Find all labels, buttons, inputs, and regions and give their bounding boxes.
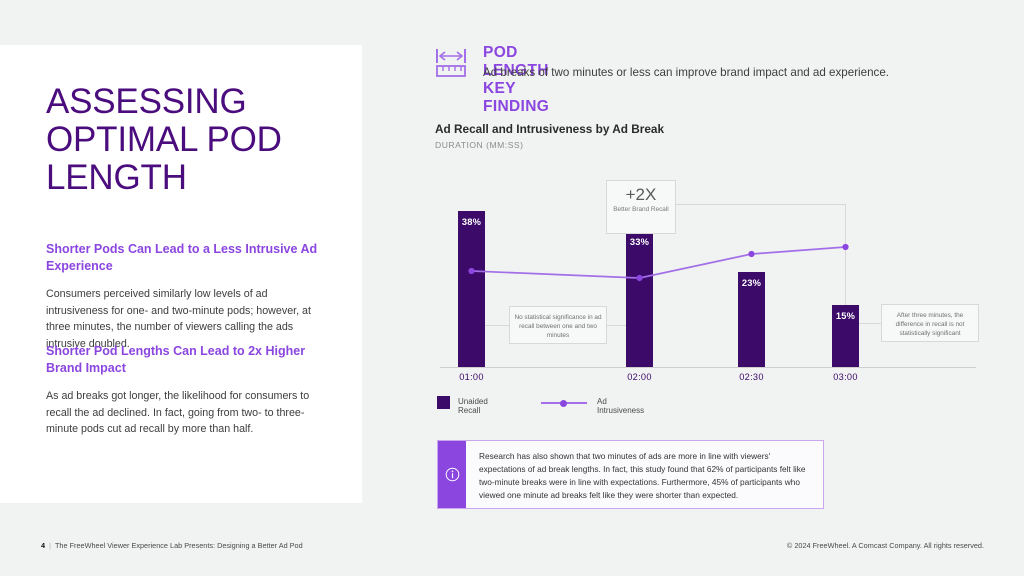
info-circle-icon bbox=[445, 467, 460, 482]
line-point-01-00 bbox=[468, 268, 474, 274]
slide-canvas: ASSESSING OPTIMAL POD LENGTH Shorter Pod… bbox=[0, 0, 1024, 576]
footer-left: 4|The FreeWheel Viewer Experience Lab Pr… bbox=[41, 541, 303, 550]
x-tick-02-30: 02:30 bbox=[717, 372, 787, 382]
info-callout-accent-bar bbox=[438, 441, 466, 508]
line-point-03-00 bbox=[842, 244, 848, 250]
no-significance-callout: No statistical significance in ad recall… bbox=[509, 306, 607, 344]
x-axis-line bbox=[440, 367, 976, 368]
sidebar-block-2: Shorter Pod Lengths Can Lead to 2x Highe… bbox=[46, 343, 331, 438]
x-tick-02-00: 02:00 bbox=[605, 372, 675, 382]
x-tick-01-00: 01:00 bbox=[437, 372, 507, 382]
brand-recall-callout: +2X Better Brand Recall bbox=[606, 180, 676, 234]
sidebar-block-1: Shorter Pods Can Lead to a Less Intrusiv… bbox=[46, 241, 331, 352]
left-panel: ASSESSING OPTIMAL POD LENGTH Shorter Pod… bbox=[0, 45, 362, 503]
sidebar-block-2-body: As ad breaks got longer, the likelihood … bbox=[46, 388, 331, 438]
line-point-02-30 bbox=[748, 251, 754, 257]
footer-copyright: © 2024 FreeWheel. A Comcast Company. All… bbox=[787, 541, 984, 550]
legend-swatch-unaided-recall bbox=[437, 396, 450, 409]
x-tick-03-00: 03:00 bbox=[811, 372, 881, 382]
line-point-02-00 bbox=[636, 275, 642, 281]
footer-separator: | bbox=[49, 541, 51, 550]
legend-label-ad-intrusiveness: Ad Intrusiveness bbox=[597, 397, 644, 415]
after-three-minutes-callout: After three minutes, the difference in r… bbox=[881, 304, 979, 342]
brand-recall-caption: Better Brand Recall bbox=[607, 206, 675, 214]
info-callout: Research has also shown that two minutes… bbox=[437, 440, 824, 509]
legend-label-unaided-recall: Unaided Recall bbox=[458, 397, 488, 415]
chart-title: Ad Recall and Intrusiveness by Ad Break bbox=[435, 122, 664, 136]
footer-deck-name: The FreeWheel Viewer Experience Lab Pres… bbox=[55, 541, 303, 550]
page-title: ASSESSING OPTIMAL POD LENGTH bbox=[46, 83, 346, 197]
sidebar-block-2-heading: Shorter Pod Lengths Can Lead to 2x Highe… bbox=[46, 343, 331, 377]
ruler-measure-icon bbox=[435, 47, 469, 79]
info-callout-text: Research has also shown that two minutes… bbox=[466, 441, 823, 508]
key-finding-subtitle: Ad breaks of two minutes or less can imp… bbox=[483, 66, 889, 79]
legend-dot-ad-intrusiveness bbox=[560, 400, 567, 407]
footer-page-number: 4 bbox=[41, 541, 45, 550]
sidebar-block-1-heading: Shorter Pods Can Lead to a Less Intrusiv… bbox=[46, 241, 331, 275]
brand-recall-value: +2X bbox=[607, 185, 675, 205]
key-finding-title: POD LENGTH KEY FINDING bbox=[483, 44, 549, 116]
chart-subtitle: DURATION (MM:SS) bbox=[435, 140, 524, 150]
